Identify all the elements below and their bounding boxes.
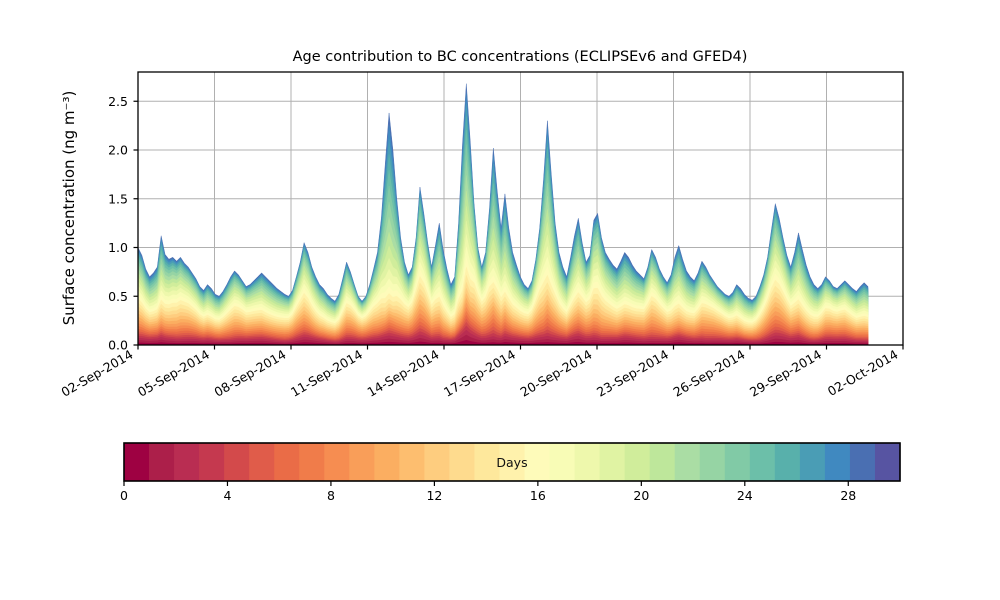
colorbar-band <box>725 443 751 481</box>
colorbar-tick-label: 0 <box>120 488 128 503</box>
colorbar-tick-label: 20 <box>633 488 649 503</box>
colorbar-label: Days <box>496 455 527 470</box>
colorbar-tick-label: 4 <box>223 488 231 503</box>
colorbar-band <box>174 443 200 481</box>
colorbar-band <box>324 443 350 481</box>
colorbar-band <box>750 443 776 481</box>
colorbar-band <box>449 443 475 481</box>
colorbar-tick-label: 28 <box>840 488 856 503</box>
y-tick-label: 2.5 <box>108 94 128 109</box>
colorbar-tick-label: 24 <box>737 488 753 503</box>
colorbar-band <box>249 443 275 481</box>
colorbar-band <box>675 443 701 481</box>
y-tick-label: 0.5 <box>108 289 128 304</box>
colorbar-band <box>800 443 826 481</box>
colorbar-band <box>700 443 726 481</box>
colorbar-tick-label: 16 <box>530 488 546 503</box>
colorbar-band <box>600 443 626 481</box>
colorbar-tick-label: 12 <box>426 488 442 503</box>
colorbar-band <box>399 443 425 481</box>
colorbar-band <box>850 443 876 481</box>
colorbar-band <box>149 443 175 481</box>
colorbar-band <box>274 443 300 481</box>
colorbar-band <box>199 443 225 481</box>
y-tick-label: 1.5 <box>108 191 128 206</box>
colorbar-tick-label: 8 <box>327 488 335 503</box>
colorbar-band <box>525 443 551 481</box>
y-tick-label: 1.0 <box>108 240 128 255</box>
figure-canvas: Age contribution to BC concentrations (E… <box>0 0 1000 600</box>
colorbar-band <box>424 443 450 481</box>
colorbar-band <box>775 443 801 481</box>
colorbar-band <box>349 443 375 481</box>
y-tick-label: 2.0 <box>108 143 128 158</box>
colorbar-band <box>550 443 576 481</box>
colorbar-band <box>299 443 325 481</box>
colorbar-band <box>374 443 400 481</box>
colorbar-band <box>575 443 601 481</box>
colorbar-band <box>825 443 851 481</box>
chart-title: Age contribution to BC concentrations (E… <box>293 49 748 65</box>
colorbar-band <box>650 443 676 481</box>
y-axis-title: Surface concentration (ng m⁻³) <box>60 91 78 326</box>
colorbar-band <box>224 443 250 481</box>
colorbar-band <box>124 443 150 481</box>
colorbar-band <box>875 443 901 481</box>
colorbar-band <box>625 443 651 481</box>
